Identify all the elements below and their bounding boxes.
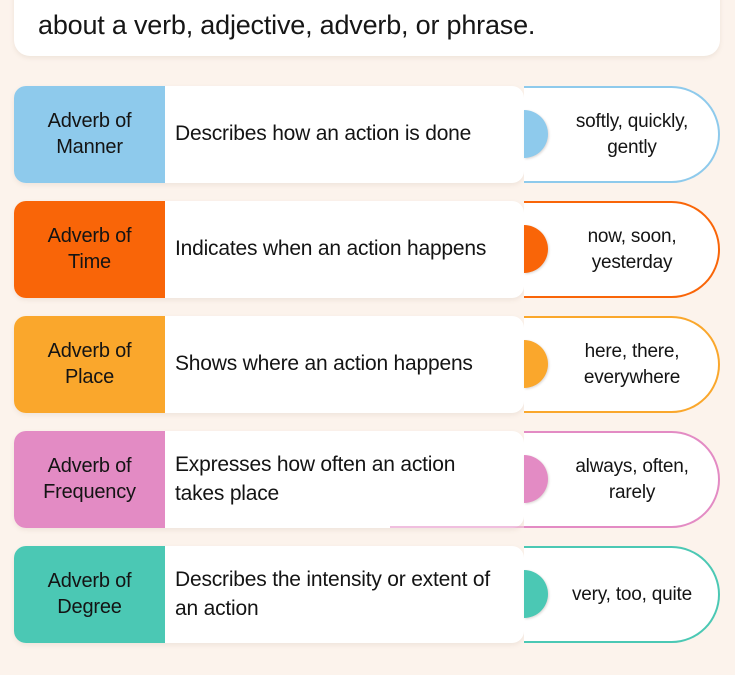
adverb-row: Adverb of Manner Describes how an action…: [0, 86, 735, 183]
examples-text: softly, quickly, gently: [524, 109, 718, 160]
category-label-line1: Adverb of: [48, 570, 132, 592]
examples-text: here, there, everywhere: [524, 339, 718, 390]
examples-pill: here, there, everywhere: [524, 316, 720, 413]
adverb-row: Adverb of Frequency Expresses how often …: [0, 431, 735, 528]
category-label: Adverb of Place: [48, 339, 132, 389]
category-label-line1: Adverb of: [48, 110, 132, 132]
category-label: Adverb of Time: [48, 224, 132, 274]
category-block[interactable]: Adverb of Manner: [14, 86, 165, 183]
description-text: Describes how an action is done: [175, 86, 505, 183]
intro-text: about a verb, adjective, adverb, or phra…: [38, 10, 535, 42]
category-block[interactable]: Adverb of Degree: [14, 546, 165, 643]
category-label-line1: Adverb of: [48, 455, 132, 477]
category-label: Adverb of Degree: [48, 569, 132, 619]
intro-card: about a verb, adjective, adverb, or phra…: [14, 0, 720, 56]
examples-pill: softly, quickly, gently: [524, 86, 720, 183]
category-label-line2: Frequency: [43, 481, 136, 503]
examples-text: very, too, quite: [524, 582, 718, 607]
category-label: Adverb of Frequency: [43, 454, 136, 504]
category-label: Adverb of Manner: [48, 109, 132, 159]
category-block[interactable]: Adverb of Time: [14, 201, 165, 298]
category-label-line2: Time: [68, 251, 111, 273]
adverb-rows-list: Adverb of Manner Describes how an action…: [0, 86, 735, 661]
category-label-line2: Manner: [56, 136, 123, 158]
category-label-line2: Degree: [57, 596, 121, 618]
description-text: Expresses how often an action takes plac…: [175, 431, 505, 528]
description-text: Shows where an action happens: [175, 316, 505, 413]
description-text: Indicates when an action happens: [175, 201, 505, 298]
category-block[interactable]: Adverb of Frequency: [14, 431, 165, 528]
examples-pill: very, too, quite: [524, 546, 720, 643]
category-label-line1: Adverb of: [48, 225, 132, 247]
adverb-types-infographic: { "page": { "background_color": "#fcf3ec…: [0, 0, 735, 675]
category-block[interactable]: Adverb of Place: [14, 316, 165, 413]
row-connector-line: [390, 526, 524, 528]
examples-pill: always, often, rarely: [524, 431, 720, 528]
adverb-row: Adverb of Time Indicates when an action …: [0, 201, 735, 298]
examples-pill: now, soon, yesterday: [524, 201, 720, 298]
category-label-line1: Adverb of: [48, 340, 132, 362]
description-text: Describes the intensity or extent of an …: [175, 546, 505, 643]
category-label-line2: Place: [65, 366, 114, 388]
adverb-row: Adverb of Degree Describes the intensity…: [0, 546, 735, 643]
adverb-row: Adverb of Place Shows where an action ha…: [0, 316, 735, 413]
examples-text: always, often, rarely: [524, 454, 718, 505]
examples-text: now, soon, yesterday: [524, 224, 718, 275]
